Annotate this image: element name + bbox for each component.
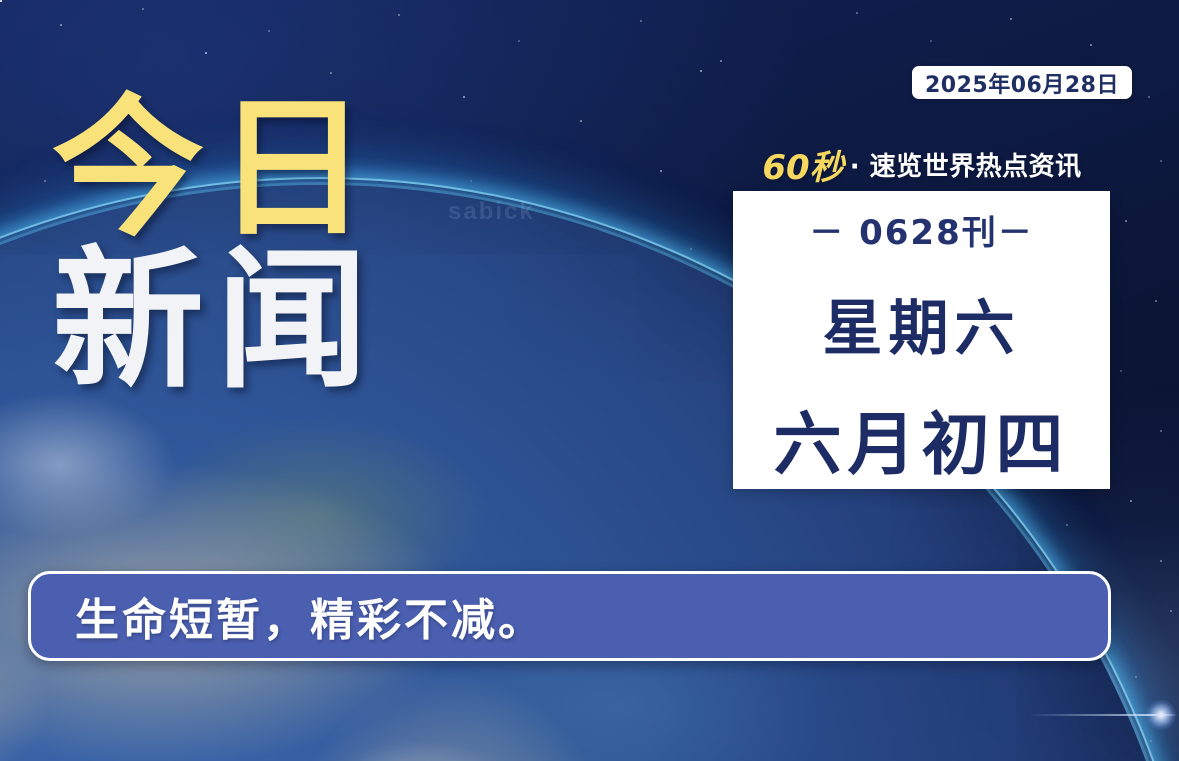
lunar-date-label: 六月初四 <box>773 389 1069 488</box>
issue-number: － 0628刊－ <box>809 205 1033 254</box>
masthead-line-2: 新闻 <box>52 248 472 394</box>
tagline-rest: · 速览世界热点资讯 <box>850 146 1082 183</box>
date-badge: 2025年06月28日 <box>912 66 1132 99</box>
lens-flare-star <box>1146 700 1176 730</box>
weekday-label: 星期六 <box>823 280 1021 367</box>
quote-banner: 生命短暂，精彩不减。 <box>28 571 1111 661</box>
tagline-highlight: 60秒 <box>762 140 843 189</box>
info-card: － 0628刊－ 星期六 六月初四 <box>733 191 1110 489</box>
masthead: 今日 新闻 <box>52 96 472 394</box>
quote-banner-text: 生命短暂，精彩不减。 <box>75 584 545 648</box>
poster-canvas: sabick 今日 新闻 2025年06月28日 60秒 · 速览世界热点资讯 … <box>0 0 1179 761</box>
date-badge-label: 2025年06月28日 <box>925 67 1119 99</box>
tagline: 60秒 · 速览世界热点资讯 <box>733 142 1111 186</box>
masthead-line-1: 今日 <box>52 96 472 242</box>
